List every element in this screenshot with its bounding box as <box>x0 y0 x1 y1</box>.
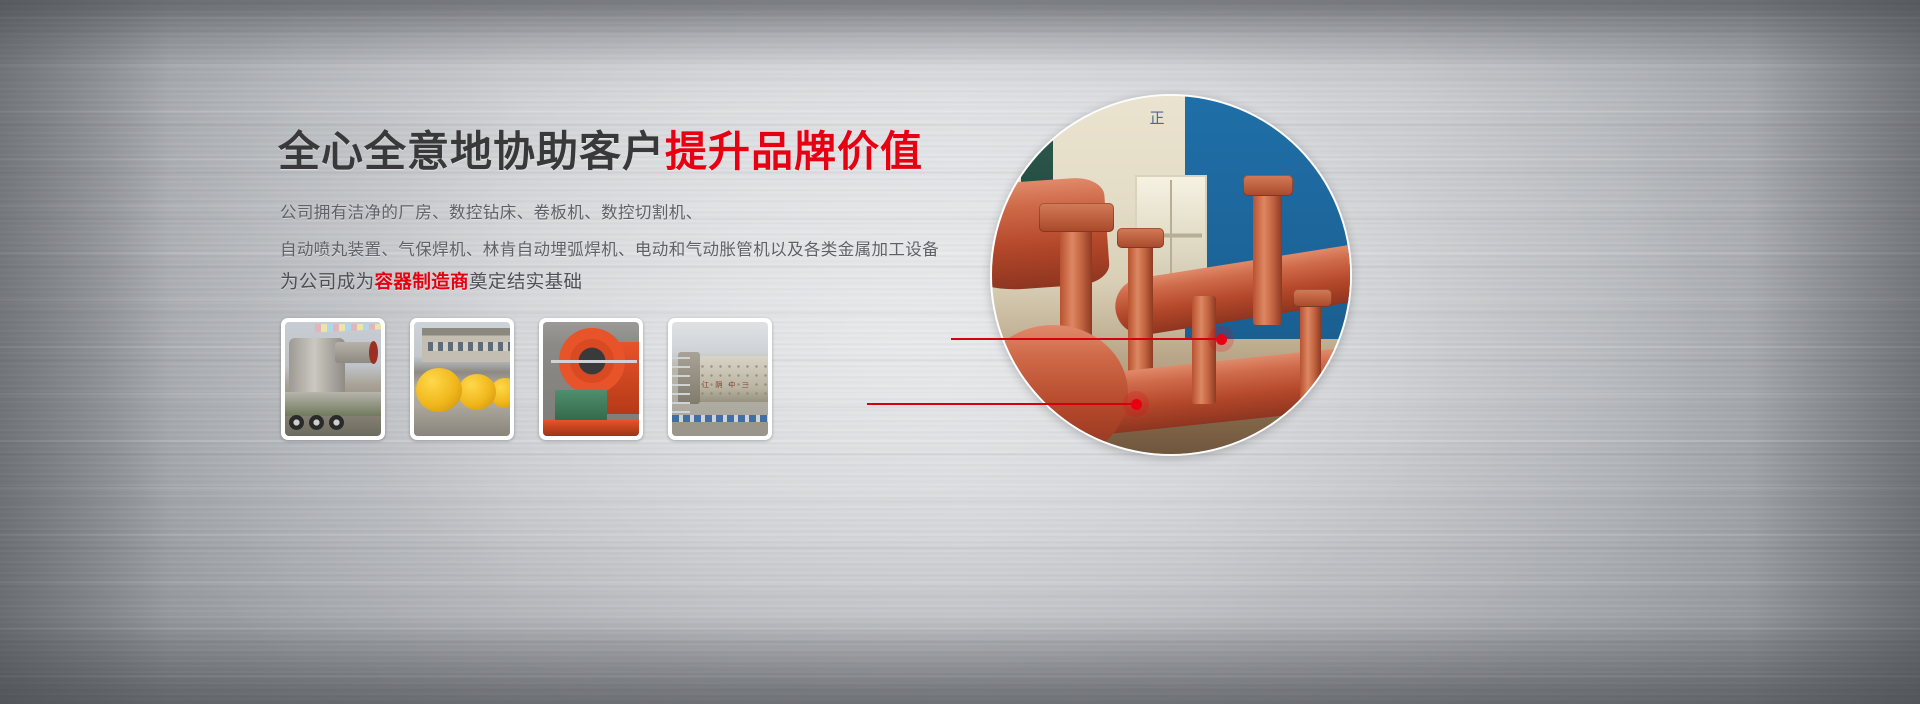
thumb-image-1 <box>285 322 381 436</box>
machine-base <box>543 420 639 436</box>
hero-banner: 正 全心全意地协助客户提升品牌价值 公司拥有洁净的厂房、数控钻床、卷板机、数控切… <box>0 0 1920 704</box>
vessel-nozzle <box>335 342 375 363</box>
thumbnail-strip: 江 阴 中 三 <box>281 318 772 440</box>
factory-building <box>422 328 510 362</box>
flag-bunting <box>315 324 381 336</box>
body-line-1: 公司拥有洁净的厂房、数控钻床、卷板机、数控切割机、 <box>280 205 703 222</box>
body-line-2: 自动喷丸装置、气保焊机、林肯自动埋弧焊机、电动和气动胀管机以及各类金属加工设备 <box>280 242 939 259</box>
connector-line-1 <box>951 338 1216 340</box>
vessel-dome-head <box>990 325 1128 456</box>
trailer-wheels <box>289 415 344 430</box>
thumb-image-3 <box>543 322 639 436</box>
body-line-3-prefix: 为公司成为 <box>280 271 375 292</box>
ball-mill-drum <box>690 356 768 402</box>
machine-rail <box>551 360 637 363</box>
body-line-3-highlight: 容器制造商 <box>375 271 470 292</box>
headline-dark-text: 全心全意地协助客户 <box>278 128 665 175</box>
thumb-pressure-vessel-on-trailer[interactable] <box>281 318 385 440</box>
mill-stair-rail <box>672 348 690 418</box>
body-line-3-suffix: 奠定结实基础 <box>469 271 582 292</box>
yellow-tank-2 <box>458 374 496 410</box>
connector-dot-1 <box>1208 326 1234 352</box>
pipe-riser-3 <box>1192 296 1215 403</box>
connector-line-2 <box>867 403 1132 405</box>
thumb-ball-mill[interactable]: 江 阴 中 三 <box>668 318 772 440</box>
pipe-flange-2 <box>1117 228 1164 248</box>
yellow-tank-1 <box>416 368 462 412</box>
pipe-flange-1 <box>1039 203 1114 232</box>
yard-ground <box>414 408 510 436</box>
ball-mill-branding: 江 阴 中 三 <box>702 380 751 390</box>
pipe-riser-4 <box>1253 189 1282 325</box>
pipe-riser-5 <box>1300 304 1321 411</box>
thumb-image-4: 江 阴 中 三 <box>672 322 768 436</box>
headline-red-text: 提升品牌价值 <box>665 128 923 175</box>
banner-text-block: 全心全意地协助客户提升品牌价值 公司拥有洁净的厂房、数控钻床、卷板机、数控切割机… <box>278 126 1038 179</box>
mill-floor <box>672 422 768 436</box>
pressure-vessel-left <box>990 176 1110 295</box>
thumb-yellow-spherical-tanks[interactable] <box>410 318 514 440</box>
body-line-3: 为公司成为容器制造商奠定结实基础 <box>280 273 582 292</box>
factory-sign-text: 正 <box>1150 107 1168 128</box>
thumb-orange-winch-machinery[interactable] <box>539 318 643 440</box>
pipe-flange-4 <box>1293 289 1332 307</box>
connector-dot-2 <box>1123 391 1149 417</box>
hero-circle-photo: 正 <box>990 94 1352 456</box>
page-title: 全心全意地协助客户提升品牌价值 <box>278 126 1038 179</box>
trailer-bed <box>285 392 381 416</box>
hero-photo-image: 正 <box>992 96 1350 454</box>
thumb-image-2 <box>414 322 510 436</box>
pipe-riser-2 <box>1128 239 1153 382</box>
pipe-flange-3 <box>1243 175 1293 196</box>
